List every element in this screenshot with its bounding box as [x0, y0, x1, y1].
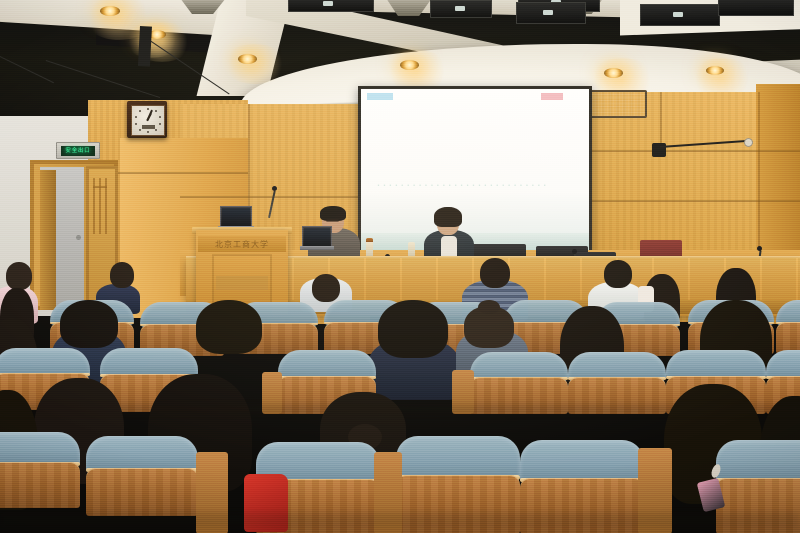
wall-speaker — [587, 90, 647, 118]
seat-row-c-1[interactable] — [0, 432, 80, 508]
slide-accent-left — [367, 93, 393, 100]
door-knob[interactable] — [76, 235, 81, 240]
podium-nameplate-label: 北京工商大学 — [215, 239, 269, 250]
ceiling-speaker-3 — [516, 2, 586, 24]
podium-nameplate: 北京工商大学 — [198, 236, 286, 252]
slide-accent-right — [541, 93, 563, 100]
slide-body-text: • • • • • • • • • • • • • • • • • • • • … — [377, 183, 579, 189]
ceiling-speaker-1 — [288, 0, 374, 12]
wall-clock — [127, 101, 167, 138]
podium-plaque — [216, 276, 268, 290]
clock-brand-plate — [142, 125, 155, 129]
clock-face — [131, 105, 165, 136]
ceiling-downlight-5 — [400, 60, 419, 70]
ceiling-wire-4 — [138, 26, 152, 67]
microphone-right-head — [572, 249, 577, 254]
ceiling-speaker-6 — [430, 0, 492, 18]
row-shadow-2 — [0, 512, 800, 528]
seat-row-c-2[interactable] — [86, 436, 198, 516]
exit-sign-label: 安全出口 — [65, 148, 90, 153]
clock-minute-hand — [146, 109, 152, 121]
row-shadow-1 — [0, 404, 800, 414]
microphone-far-right-head — [757, 246, 762, 251]
door-leaf[interactable] — [40, 170, 56, 310]
projection-screen-surface: • • • • • • • • • • • • • • • • • • • • … — [361, 89, 589, 255]
ceiling-downlight-6 — [604, 68, 623, 78]
lecture-hall-photo: 安全出口 • • • • • • • • • • • • • • • • • •… — [0, 0, 800, 533]
ceiling-downlight-4 — [238, 54, 257, 64]
ceiling-downlight-7 — [706, 66, 724, 75]
ceiling-downlight-1 — [100, 6, 120, 16]
water-bottle-1-cap — [366, 238, 373, 242]
projection-screen: • • • • • • • • • • • • • • • • • • • • … — [358, 86, 592, 258]
ceiling-speaker-4 — [640, 4, 720, 26]
seat-row-a-9[interactable] — [776, 300, 800, 354]
cable-anchor — [744, 138, 753, 147]
wall-seam-1 — [560, 150, 800, 152]
emergency-exit-sign: 安全出口 — [56, 142, 100, 159]
microphone-podium-head — [272, 186, 277, 191]
wall-seam-6 — [180, 196, 370, 198]
wall-seam-2 — [560, 200, 800, 202]
ceiling-speaker-5 — [718, 0, 794, 16]
